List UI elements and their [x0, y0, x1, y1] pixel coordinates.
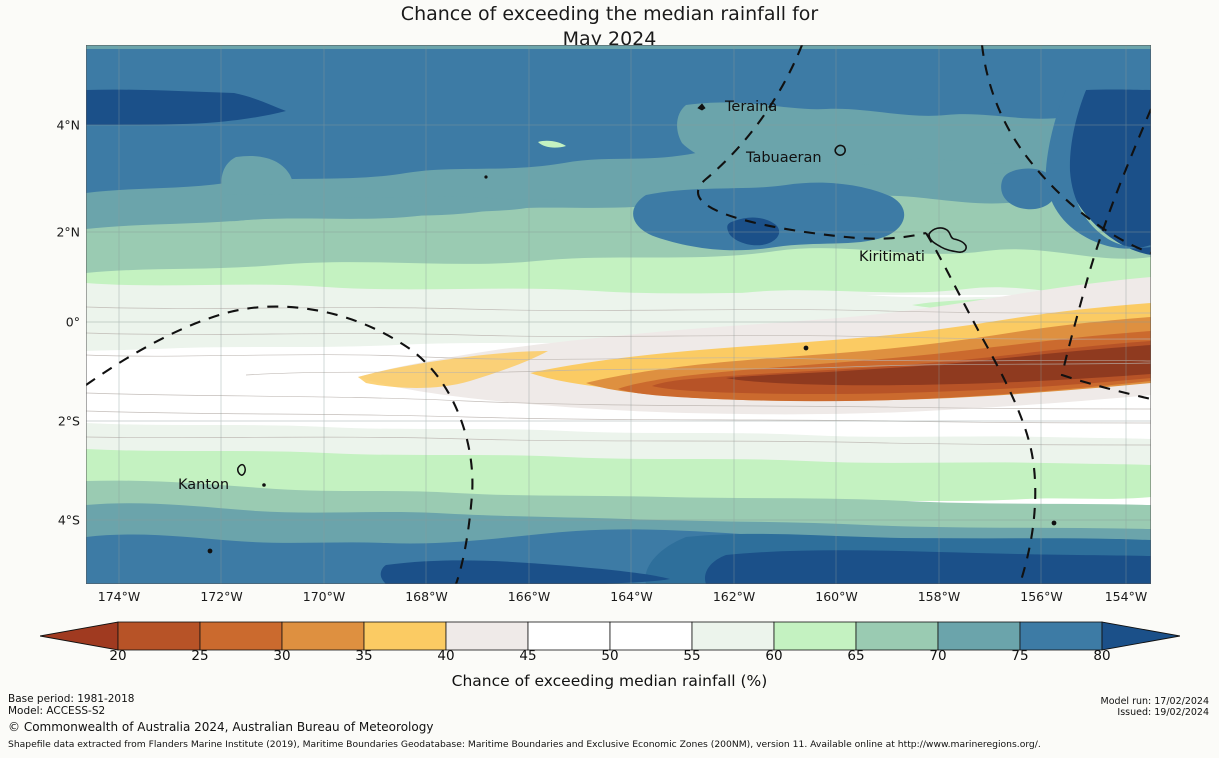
longitude-tick-5: 164°W — [610, 589, 652, 604]
colorbar-band-20-25[interactable] — [118, 622, 200, 650]
longitude-tick-7: 160°W — [815, 589, 857, 604]
contour-map[interactable]: Teraina Tabuaeran Kiritimati Kanton — [86, 45, 1151, 584]
colorbar-under-arrow — [40, 622, 118, 650]
colorbar-tick-60: 60 — [765, 648, 782, 664]
latitude-tick-1: 2°N — [56, 224, 80, 239]
base-period: Base period: 1981-2018 — [8, 693, 134, 705]
colorbar[interactable] — [40, 621, 1180, 651]
colorbar-tick-20: 20 — [109, 648, 126, 664]
place-label-kanton: Kanton — [178, 477, 229, 493]
model-name: Model: ACCESS-S2 — [8, 705, 105, 717]
longitude-tick-2: 170°W — [303, 589, 345, 604]
longitude-tick-3: 168°W — [405, 589, 447, 604]
longitude-tick-0: 174°W — [98, 589, 140, 604]
colorbar-tick-45: 45 — [519, 648, 536, 664]
colorbar-band-25-30[interactable] — [200, 622, 282, 650]
colorbar-band-30-35[interactable] — [282, 622, 364, 650]
footer-left: Base period: 1981-2018 Model: ACCESS-S2 … — [8, 694, 433, 736]
colorbar-tick-25: 25 — [191, 648, 208, 664]
colorbar-tick-70: 70 — [929, 648, 946, 664]
colorbar-ticks: 20253035404550556065707580 — [40, 648, 1180, 668]
colorbar-band-40-45[interactable] — [446, 622, 528, 650]
model-run: Model run: 17/02/2024 — [1101, 696, 1209, 707]
longitude-axis: 174°W172°W170°W168°W166°W164°W162°W160°W… — [86, 589, 1151, 609]
colorbar-band-35-40[interactable] — [364, 622, 446, 650]
colorbar-band-75-80[interactable] — [1020, 622, 1102, 650]
colorbar-band-45-50[interactable] — [528, 622, 610, 650]
colorbar-band-50-55[interactable] — [610, 622, 692, 650]
colorbar-label: Chance of exceeding median rainfall (%) — [0, 672, 1219, 690]
footer-right: Model run: 17/02/2024 Issued: 19/02/2024 — [1101, 696, 1209, 718]
longitude-tick-6: 162°W — [713, 589, 755, 604]
issued-date: Issued: 19/02/2024 — [1117, 707, 1209, 718]
map-panel[interactable]: Teraina Tabuaeran Kiritimati Kanton — [86, 45, 1151, 584]
latitude-tick-3: 2°S — [58, 414, 80, 429]
colorbar-tick-65: 65 — [847, 648, 864, 664]
colorbar-tick-80: 80 — [1093, 648, 1110, 664]
colorbar-band-70-75[interactable] — [938, 622, 1020, 650]
colorbar-band-60-65[interactable] — [774, 622, 856, 650]
colorbar-tick-50: 50 — [601, 648, 618, 664]
longitude-tick-4: 166°W — [508, 589, 550, 604]
colorbar-tick-35: 35 — [355, 648, 372, 664]
latitude-tick-0: 4°N — [56, 118, 80, 133]
colorbar-band-55-60[interactable] — [692, 622, 774, 650]
longitude-tick-9: 156°W — [1020, 589, 1062, 604]
colorbar-tick-40: 40 — [437, 648, 454, 664]
place-label-kiritimati: Kiritimati — [859, 249, 925, 265]
longitude-tick-8: 158°W — [918, 589, 960, 604]
colorbar-over-arrow — [1102, 622, 1180, 650]
colorbar-tick-30: 30 — [273, 648, 290, 664]
colorbar-band-65-70[interactable] — [856, 622, 938, 650]
colorbar-tick-55: 55 — [683, 648, 700, 664]
colorbar-tick-75: 75 — [1011, 648, 1028, 664]
colorbar-swatches[interactable] — [40, 621, 1180, 651]
latitude-tick-2: 0° — [66, 315, 80, 330]
place-label-tabuaeran: Tabuaeran — [745, 150, 822, 166]
shapefile-attribution: Shapefile data extracted from Flanders M… — [8, 739, 1041, 750]
longitude-tick-1: 172°W — [200, 589, 242, 604]
longitude-tick-10: 154°W — [1105, 589, 1147, 604]
place-label-teraina: Teraina — [724, 99, 777, 115]
copyright: © Commonwealth of Australia 2024, Austra… — [8, 719, 433, 736]
latitude-axis: 4°N2°N0°2°S4°S — [0, 45, 80, 584]
latitude-tick-4: 4°S — [58, 512, 80, 527]
